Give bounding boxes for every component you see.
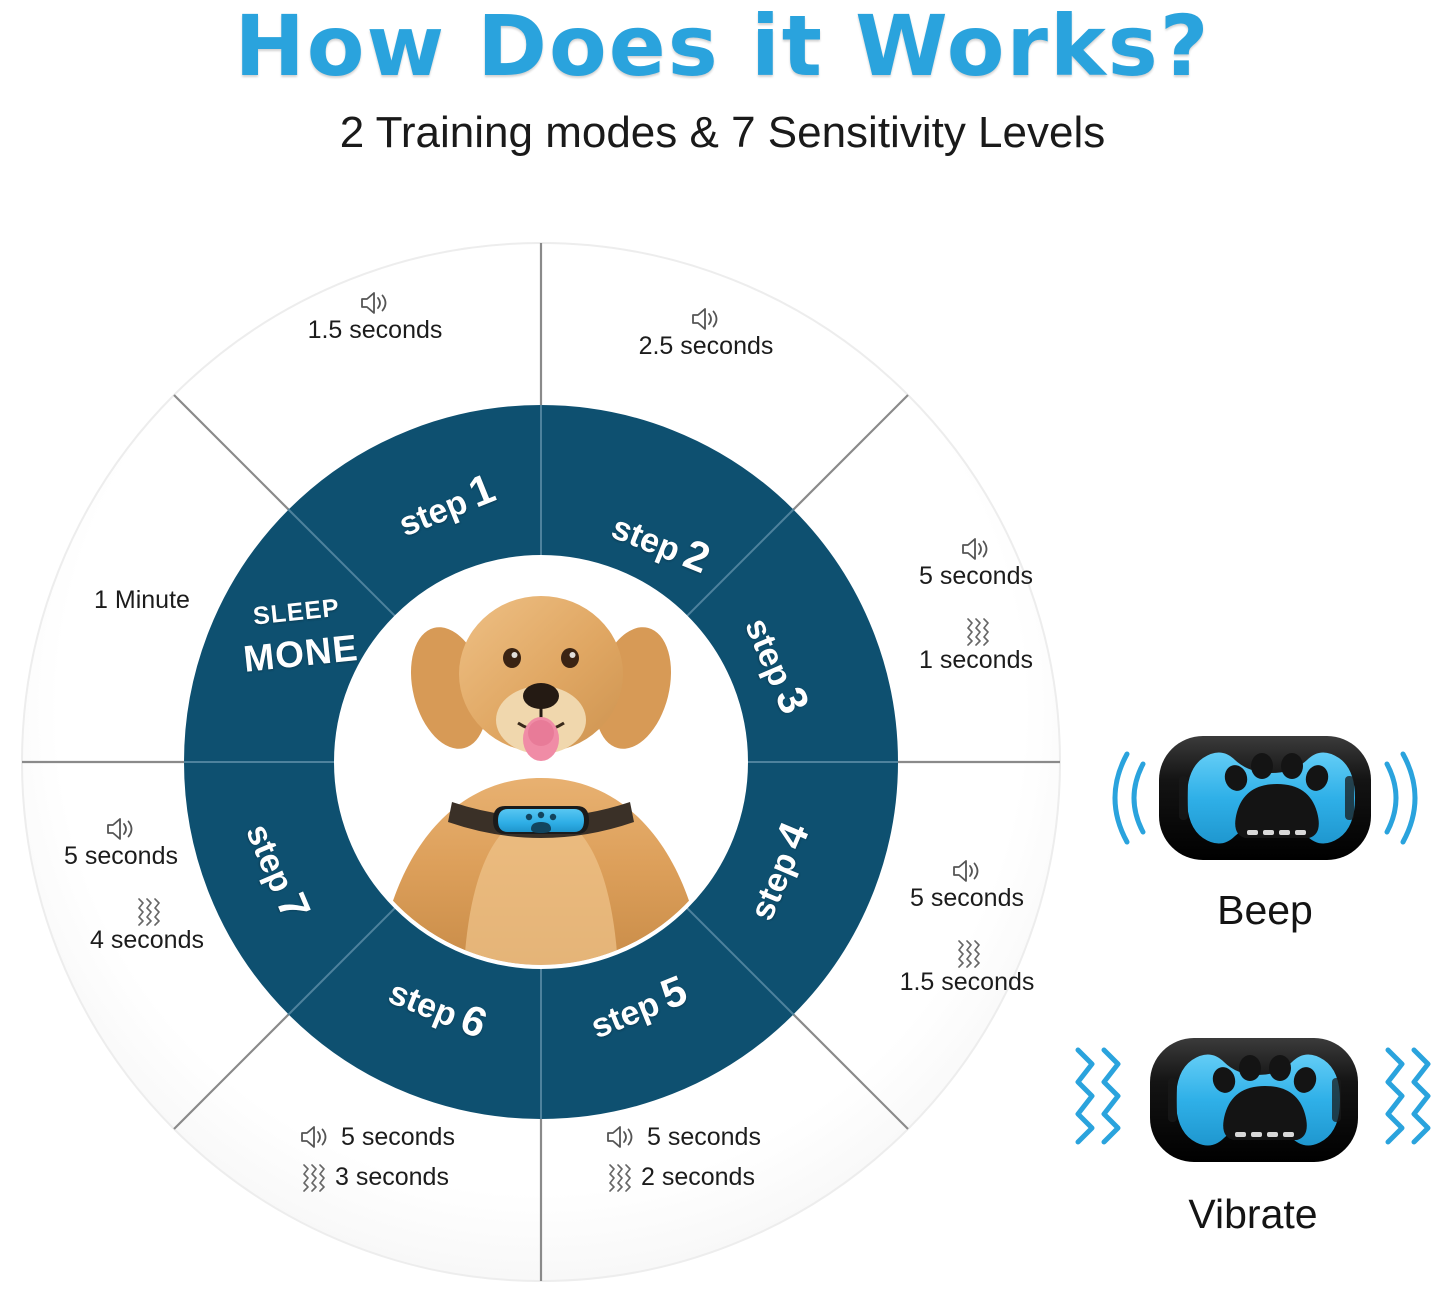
annotation-step2: 2.5 seconds bbox=[586, 306, 826, 360]
infographic-page: How Does it Works? 2 Training modes & 7 … bbox=[0, 0, 1445, 1303]
vibration-icon bbox=[962, 616, 990, 646]
step7-beep-text: 5 seconds bbox=[64, 842, 178, 870]
step6-beep-text: 5 seconds bbox=[341, 1123, 455, 1151]
step6-vibrate-text: 3 seconds bbox=[335, 1163, 449, 1191]
vibration-icon bbox=[604, 1162, 632, 1192]
speaker-icon bbox=[950, 858, 984, 884]
mode-beep: Beep bbox=[1095, 718, 1435, 934]
vibration-wave-right bbox=[1388, 1050, 1428, 1142]
vibration-icon bbox=[133, 896, 161, 926]
speaker-icon bbox=[959, 536, 993, 562]
step1-beep-text: 1.5 seconds bbox=[308, 316, 443, 344]
wheel-graphic bbox=[0, 218, 1090, 1303]
collar-device bbox=[493, 806, 589, 834]
annotation-step5: 5 seconds 2 seconds bbox=[604, 1123, 761, 1192]
step5-vibrate-text: 2 seconds bbox=[641, 1163, 755, 1191]
sound-wave-left bbox=[1115, 754, 1143, 842]
speaker-icon bbox=[689, 306, 723, 332]
annotation-step6: 5 seconds 3 seconds bbox=[298, 1123, 455, 1192]
annotation-step3: 5 seconds 1 seconds bbox=[856, 536, 1096, 674]
speaker-icon bbox=[298, 1124, 332, 1150]
vibrate-device-art bbox=[1068, 1022, 1438, 1187]
training-wheel-diagram: step1 step2 step3 step4 step5 step6 step… bbox=[0, 218, 1090, 1303]
beep-device-art bbox=[1095, 718, 1435, 883]
vibration-icon bbox=[953, 938, 981, 968]
speaker-icon bbox=[104, 816, 138, 842]
speaker-icon bbox=[358, 290, 392, 316]
step2-beep-text: 2.5 seconds bbox=[639, 332, 774, 360]
sleep-duration-text: 1 Minute bbox=[94, 586, 190, 614]
step4-vibrate-text: 1.5 seconds bbox=[900, 968, 1035, 996]
vibrate-caption: Vibrate bbox=[1068, 1191, 1438, 1238]
step5-beep-text: 5 seconds bbox=[647, 1123, 761, 1151]
annotation-step1: 1.5 seconds bbox=[255, 290, 495, 344]
step7-vibrate-text: 4 seconds bbox=[90, 926, 204, 954]
speaker-icon bbox=[604, 1124, 638, 1150]
vibration-wave-left bbox=[1078, 1050, 1118, 1142]
page-title: How Does it Works? bbox=[0, 2, 1445, 90]
beep-caption: Beep bbox=[1095, 887, 1435, 934]
annotation-step4: 5 seconds 1.5 seconds bbox=[842, 858, 1092, 996]
annotation-step7: 5 seconds 4 seconds bbox=[8, 816, 234, 954]
mode-vibrate: Vibrate bbox=[1068, 1022, 1438, 1238]
step4-beep-text: 5 seconds bbox=[910, 884, 1024, 912]
step3-vibrate-text: 1 seconds bbox=[919, 646, 1033, 674]
page-subtitle: 2 Training modes & 7 Sensitivity Levels bbox=[0, 108, 1445, 158]
sound-wave-right bbox=[1387, 754, 1415, 842]
step3-beep-text: 5 seconds bbox=[919, 562, 1033, 590]
dog-photo bbox=[338, 559, 744, 966]
annotation-sleep-duration: 1 Minute bbox=[62, 586, 222, 614]
vibration-icon bbox=[298, 1162, 326, 1192]
